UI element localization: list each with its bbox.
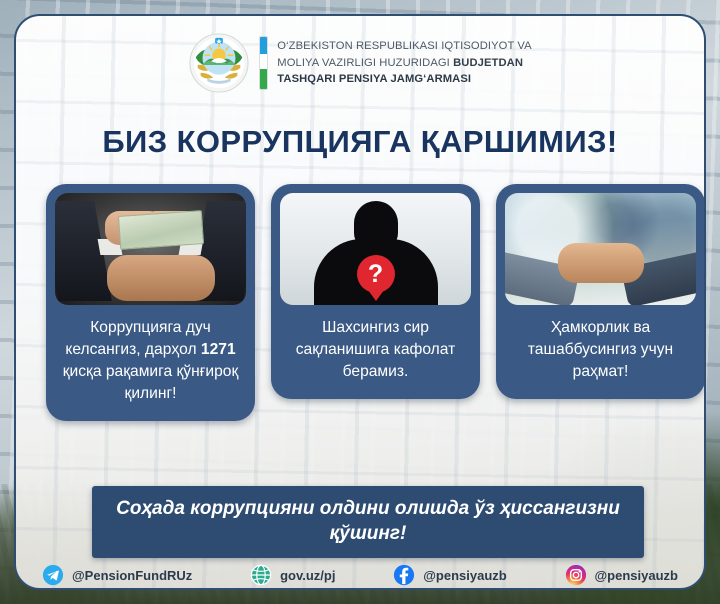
- poster-title: БИЗ КОРРУПЦИЯГА ҚАРШИМИЗ!: [16, 124, 704, 160]
- organization-name: O‘ZBEKISTON RESPUBLIKASI IQTISODIYOT VA …: [277, 38, 531, 88]
- card-hotline-text-1: Коррупцияга дуч келсангиз, дарҳол: [65, 319, 210, 358]
- question-mark-pin-icon: ?: [357, 255, 395, 293]
- org-line-2-bold: BUDJETDAN: [453, 57, 523, 69]
- info-cards: Коррупцияга дуч келсангиз, дарҳол 1271 қ…: [46, 184, 706, 421]
- telegram-handle: @PensionFundRUz: [72, 568, 192, 583]
- facebook-handle: @pensiyauzb: [423, 568, 506, 583]
- org-line-1: O‘ZBEKISTON RESPUBLIKASI IQTISODIYOT VA: [277, 38, 531, 55]
- social-website[interactable]: gov.uz/pj: [250, 564, 335, 586]
- card-hotline: Коррупцияга дуч келсангиз, дарҳол 1271 қ…: [46, 184, 255, 421]
- instagram-handle: @pensiyauzb: [595, 568, 678, 583]
- anonymous-silhouette-question-mark-photo: ?: [280, 193, 471, 305]
- banknote: [118, 210, 204, 250]
- instagram-icon: [565, 564, 587, 586]
- social-instagram[interactable]: @pensiyauzb: [565, 564, 678, 586]
- website-url: gov.uz/pj: [280, 568, 335, 583]
- facebook-icon: [393, 564, 415, 586]
- call-to-action-text: Соҳада коррупцияни олдини олишда ўз ҳисс…: [106, 496, 630, 546]
- poster-root: O‘ZBEKISTON RESPUBLIKASI IQTISODIYOT VA …: [0, 0, 720, 604]
- telegram-icon: [42, 564, 64, 586]
- card-cooperation-caption: Ҳамкорлик ва ташаббусингиз учун раҳмат!: [505, 305, 696, 383]
- card-cooperation: Ҳамкорлик ва ташаббусингиз учун раҳмат!: [496, 184, 705, 399]
- org-line-3: TASHQARI PENSIYA JAMG‘ARMASI: [277, 71, 531, 88]
- organization-header: O‘ZBEKISTON RESPUBLIKASI IQTISODIYOT VA …: [16, 32, 704, 94]
- social-telegram[interactable]: @PensionFundRUz: [42, 564, 192, 586]
- social-facebook[interactable]: @pensiyauzb: [393, 564, 506, 586]
- org-line-2: MOLIYA VAZIRLIGI HUZURIDAGI BUDJETDAN: [277, 55, 531, 72]
- content-panel: O‘ZBEKISTON RESPUBLIKASI IQTISODIYOT VA …: [14, 14, 706, 590]
- card-hotline-text-2: қисқа рақамига қўнғироқ қилинг!: [63, 363, 239, 402]
- globe-icon: [250, 564, 272, 586]
- call-to-action-banner: Соҳада коррупцияни олдини олишда ўз ҳисс…: [92, 486, 644, 558]
- org-line-2-plain: MOLIYA VAZIRLIGI HUZURIDAGI: [277, 57, 453, 69]
- card-anonymity-caption: Шахсингиз сир сақланишига кафолат берами…: [280, 305, 471, 383]
- uzbekistan-state-emblem-icon: [188, 32, 250, 94]
- social-footer: @PensionFundRUz gov.uz/: [42, 564, 678, 586]
- card-anonymity: ? Шахсингиз сир сақланишига кафолат бера…: [271, 184, 480, 399]
- uzbekistan-flag-bar-icon: [260, 37, 267, 89]
- hotline-number: 1271: [201, 341, 236, 358]
- bribery-money-handshake-photo: [55, 193, 246, 305]
- card-hotline-caption: Коррупцияга дуч келсангиз, дарҳол 1271 қ…: [55, 305, 246, 405]
- business-handshake-photo: [505, 193, 696, 305]
